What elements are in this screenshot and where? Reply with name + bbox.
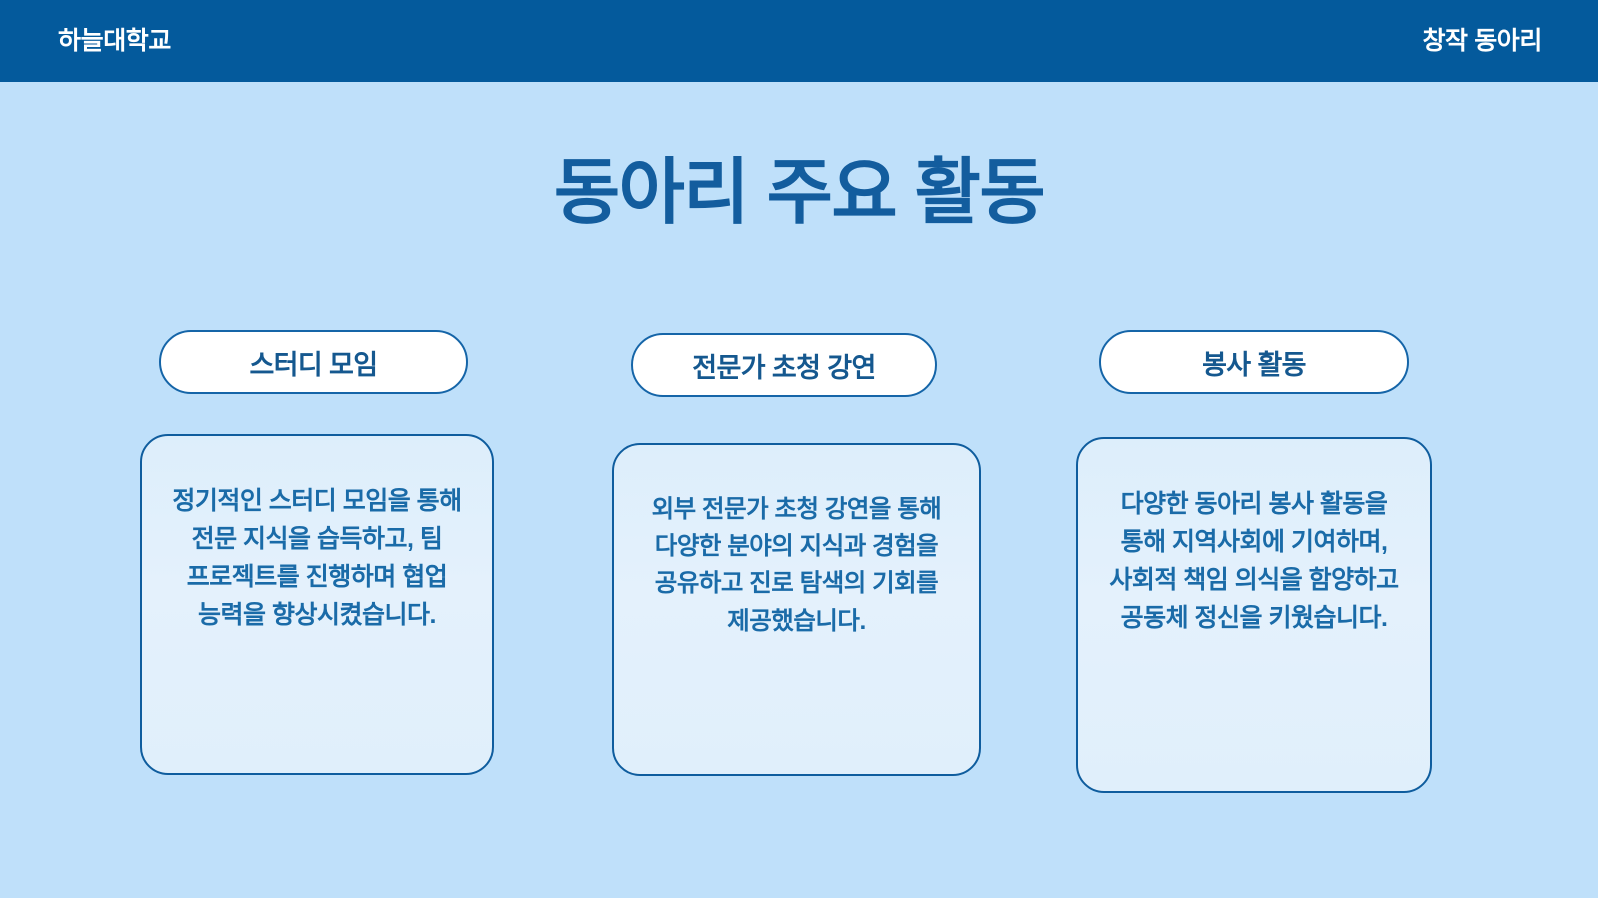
activity-card-lecture: 외부 전문가 초청 강연을 통해 다양한 분야의 지식과 경험을 공유하고 진로… [612,443,981,776]
activity-columns: 스터디 모임 정기적인 스터디 모임을 통해 전문 지식을 습득하고, 팀 프로… [0,0,1598,898]
activity-pill-study[interactable]: 스터디 모임 [159,330,468,394]
activity-card-text: 정기적인 스터디 모임을 통해 전문 지식을 습득하고, 팀 프로젝트를 진행하… [164,482,470,634]
slide: 하늘대학교 창작 동아리 동아리 주요 활동 스터디 모임 정기적인 스터디 모… [0,0,1598,898]
activity-card-text: 외부 전문가 초청 강연을 통해 다양한 분야의 지식과 경험을 공유하고 진로… [636,491,957,640]
activity-pill-label: 스터디 모임 [249,343,377,382]
activity-pill-label: 봉사 활동 [1202,343,1306,382]
activity-pill-lecture[interactable]: 전문가 초청 강연 [631,333,937,397]
activity-card-study: 정기적인 스터디 모임을 통해 전문 지식을 습득하고, 팀 프로젝트를 진행하… [140,434,494,775]
activity-card-volunteer: 다양한 동아리 봉사 활동을 통해 지역사회에 기여하며, 사회적 책임 의식을… [1076,437,1432,793]
activity-card-text: 다양한 동아리 봉사 활동을 통해 지역사회에 기여하며, 사회적 책임 의식을… [1100,485,1408,637]
activity-pill-label: 전문가 초청 강연 [692,346,875,385]
activity-pill-volunteer[interactable]: 봉사 활동 [1099,330,1409,394]
